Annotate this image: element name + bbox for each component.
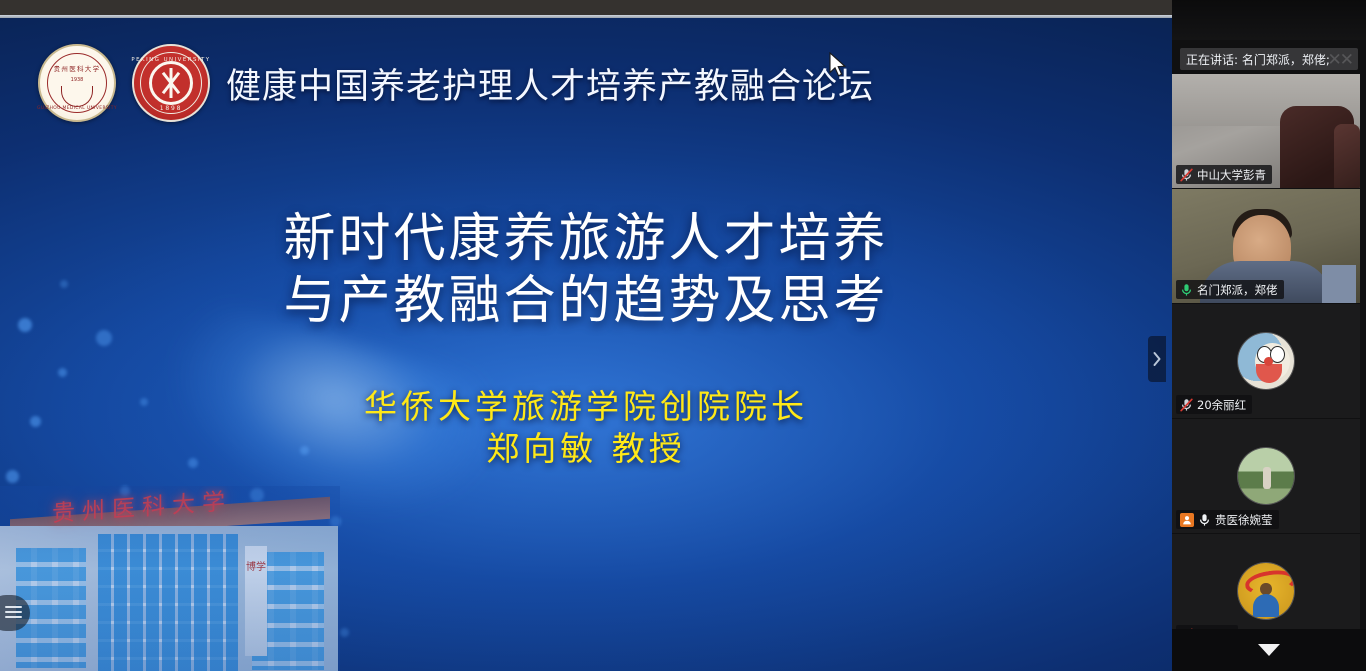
logo-emblem-shape bbox=[61, 86, 93, 107]
mic-muted-icon bbox=[1180, 168, 1193, 182]
slide-title: 新时代康养旅游人才培养 与产教融合的趋势及思考 bbox=[0, 208, 1172, 332]
participant-name: 贵医徐婉莹 bbox=[1215, 512, 1273, 528]
guizhou-medical-university-logo: 贵州医科大学 1938 GUIZHOU MEDICAL UNIVERSITY bbox=[38, 44, 116, 122]
mic-on-icon bbox=[1180, 283, 1193, 297]
participant-tile[interactable]: 中山大学彭青 bbox=[1172, 74, 1360, 188]
participant-video-rail: 正在讲话: 名门郑派，郑佬; ✕✕ bbox=[1172, 0, 1366, 671]
mic-muted-icon bbox=[1180, 398, 1193, 412]
peking-university-logo: PEKING UNIVERSITY 1898 bbox=[132, 44, 210, 122]
participant-tiles: 中山大学彭青 bbox=[1172, 74, 1360, 649]
avatar-torso bbox=[1253, 594, 1279, 616]
active-speaker-banner: 正在讲话: 名门郑派，郑佬; ✕✕ bbox=[1180, 48, 1358, 70]
participant-nameplate: 贵医徐婉莹 bbox=[1176, 510, 1279, 529]
triangle-down-icon bbox=[1258, 644, 1280, 656]
presenter-name: 郑向敏 教授 bbox=[0, 428, 1172, 470]
rail-header bbox=[1172, 0, 1366, 40]
video-person-shoulder bbox=[1322, 265, 1356, 303]
forum-title: 健康中国养老护理人才培养产教融合论坛 bbox=[226, 58, 874, 109]
presenter-affiliation: 华侨大学旅游学院创院院长 bbox=[0, 386, 1172, 428]
participant-nameplate: 20余丽红 bbox=[1176, 395, 1252, 414]
participant-nameplate: 中山大学彭青 bbox=[1176, 165, 1272, 184]
avatar bbox=[1238, 563, 1294, 619]
participant-tile-active-speaker[interactable]: 名门郑派，郑佬 bbox=[1172, 189, 1360, 303]
logo-year: 1938 bbox=[71, 77, 84, 83]
logo-en-name: GUIZHOU MEDICAL UNIVERSITY bbox=[37, 106, 117, 111]
logo-cn-name: 贵州医科大学 bbox=[54, 63, 101, 73]
participant-tile[interactable]: 20余丽红 bbox=[1172, 304, 1360, 418]
watermark-glyph: ✕✕ bbox=[1328, 50, 1353, 70]
bokeh-dot bbox=[96, 330, 112, 346]
slide-title-line-2: 与产教融合的趋势及思考 bbox=[0, 270, 1172, 332]
list-menu-icon bbox=[5, 606, 22, 621]
bokeh-dot bbox=[58, 368, 67, 377]
participant-nameplate: 名门郑派，郑佬 bbox=[1176, 280, 1284, 299]
scroll-down-button[interactable] bbox=[1172, 629, 1366, 671]
host-person-icon bbox=[1180, 513, 1194, 527]
slide-title-line-1: 新时代康养旅游人才培养 bbox=[0, 208, 1172, 270]
active-speaker-text: 正在讲话: 名门郑派，郑佬; bbox=[1186, 51, 1330, 68]
chevron-right-icon bbox=[1152, 351, 1162, 367]
mic-on-icon bbox=[1198, 513, 1211, 527]
screen-share-meeting-window: 贵州医科大学 1938 GUIZHOU MEDICAL UNIVERSITY P… bbox=[0, 0, 1366, 671]
avatar-figure bbox=[1263, 467, 1271, 489]
participant-name: 名门郑派，郑佬 bbox=[1197, 282, 1278, 298]
participant-tile[interactable]: 贵医徐婉莹 bbox=[1172, 419, 1360, 533]
window-top-bar bbox=[0, 0, 1172, 15]
participant-name: 20余丽红 bbox=[1197, 397, 1246, 413]
avatar bbox=[1238, 333, 1294, 389]
participant-name: 中山大学彭青 bbox=[1197, 167, 1266, 183]
shared-screen-slide[interactable]: 贵州医科大学 1938 GUIZHOU MEDICAL UNIVERSITY P… bbox=[0, 18, 1172, 671]
slide-presenter-block: 华侨大学旅游学院创院院长 郑向敏 教授 bbox=[0, 386, 1172, 470]
collapse-panel-button[interactable] bbox=[1148, 336, 1166, 382]
avatar-mouth bbox=[1256, 364, 1282, 383]
campus-building-photo: 博学 贵州医科大学 bbox=[0, 486, 340, 671]
avatar bbox=[1238, 448, 1294, 504]
slide-header: 贵州医科大学 1938 GUIZHOU MEDICAL UNIVERSITY P… bbox=[38, 44, 874, 122]
bokeh-dot bbox=[6, 470, 19, 483]
logo-year: 1898 bbox=[160, 105, 182, 112]
video-chair-object bbox=[1334, 124, 1360, 188]
building-blue-overlay bbox=[0, 486, 340, 671]
